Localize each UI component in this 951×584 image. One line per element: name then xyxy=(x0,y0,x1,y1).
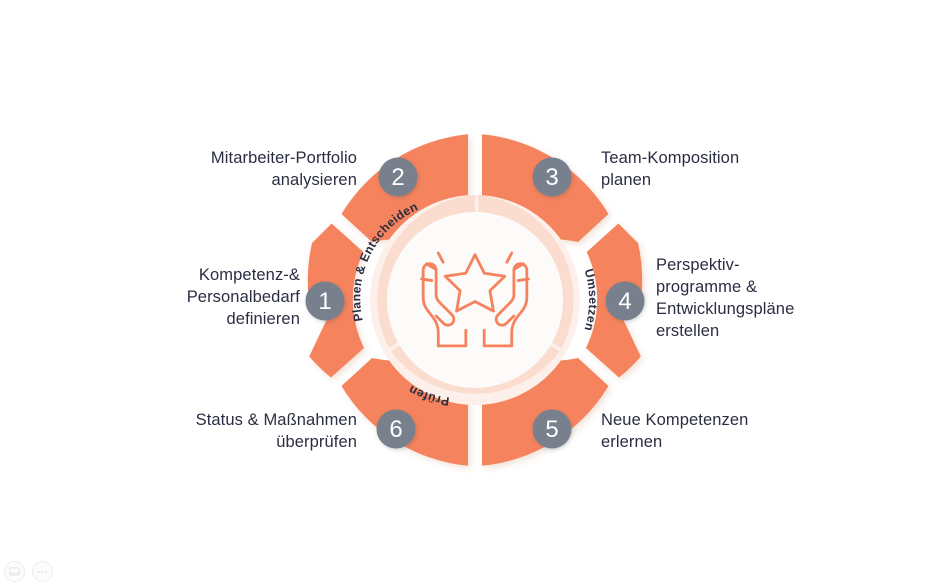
more-options-icon xyxy=(37,570,48,574)
step-label-4: Perspektiv- programme & Entwicklungsplän… xyxy=(656,255,936,343)
card-view-button[interactable] xyxy=(4,561,25,582)
step-badge-2-number: 2 xyxy=(391,164,404,191)
step-label-1: Kompetenz-& Personalbedarf definieren xyxy=(40,265,300,331)
step-label-6: Status & Maßnahmen überprüfen xyxy=(57,410,357,454)
step-badge-6-number: 6 xyxy=(389,416,402,443)
step-badge-3-number: 3 xyxy=(545,164,558,191)
card-view-icon xyxy=(9,567,20,576)
step-label-5: Neue Kompetenzen erlernen xyxy=(601,410,901,454)
step-badge-5[interactable]: 5 xyxy=(533,410,572,449)
step-badge-6[interactable]: 6 xyxy=(377,410,416,449)
step-badge-1-number: 1 xyxy=(318,288,331,315)
step-badge-4-number: 4 xyxy=(618,288,631,315)
step-badge-3[interactable]: 3 xyxy=(533,158,572,197)
phase-ring xyxy=(370,195,580,405)
step-badge-4[interactable]: 4 xyxy=(606,282,645,321)
more-options-button[interactable] xyxy=(32,561,53,582)
step-badge-5-number: 5 xyxy=(545,416,558,443)
step-badge-2[interactable]: 2 xyxy=(379,158,418,197)
corner-tools xyxy=(4,561,53,582)
step-label-3: Team-Komposition planen xyxy=(601,148,901,192)
step-label-2: Mitarbeiter-Portfolio analysieren xyxy=(57,148,357,192)
diagram-canvas: Planen & Entscheiden Umsetzen Prüfen xyxy=(0,0,951,584)
step-badge-1[interactable]: 1 xyxy=(306,282,345,321)
